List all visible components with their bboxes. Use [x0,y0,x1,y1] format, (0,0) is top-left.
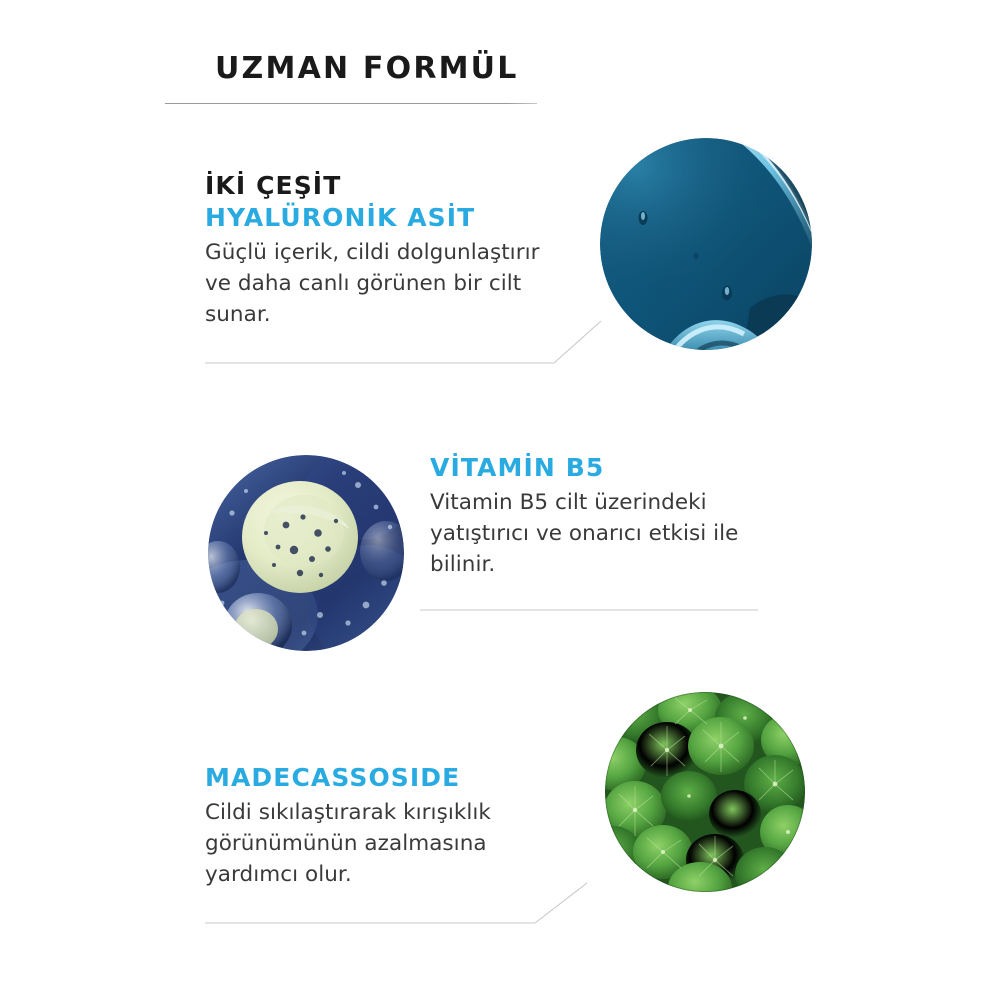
connector-line-2 [420,600,765,620]
body-line: yatıştırıcı ve onarıcı etkisi ile [430,519,790,550]
teal-serum-droplet-image [600,138,812,350]
teal-serum-droplet-artwork [600,138,812,350]
blue-bubbles-image [208,455,404,651]
blue-bubbles-artwork [208,455,404,651]
centella-leaves-image [605,692,805,892]
section-madecassoside-heading: MADECASSOSIDE [205,762,585,794]
section-hyaluronic-acid-eyebrow: İKİ ÇEŞİT [205,170,585,202]
body-line: bilinir. [430,550,790,581]
section-vitamin-b5-heading: VİTAMİN B5 [430,452,790,484]
page-title: UZMAN FORMÜL [215,52,537,85]
body-line: görünümünün azalmasına [205,829,585,860]
body-line: ve daha canlı görünen bir cilt [205,269,585,300]
header-divider [165,103,537,104]
header: UZMAN FORMÜL [165,52,537,104]
poster-root: UZMAN FORMÜL İKİ ÇEŞİT HYALÜRONİK ASİT G… [0,0,1000,1000]
section-madecassoside-text: MADECASSOSIDE Cildi sıkılaştırarak kırış… [205,762,585,891]
body-line: Güçlü içerik, cildi dolgunlaştırır [205,238,585,269]
section-vitamin-b5-body: Vitamin B5 cilt üzerindeki yatıştırıcı v… [430,488,790,581]
centella-leaves-artwork [605,692,805,892]
section-hyaluronic-acid-heading: HYALÜRONİK ASİT [205,202,585,234]
body-line: Vitamin B5 cilt üzerindeki [430,488,790,519]
connector-line-1 [205,315,615,375]
section-hyaluronic-acid-text: İKİ ÇEŞİT HYALÜRONİK ASİT Güçlü içerik, … [205,170,585,331]
connector-line-3 [205,875,600,935]
body-line: Cildi sıkılaştırarak kırışıklık [205,798,585,829]
section-vitamin-b5-text: VİTAMİN B5 Vitamin B5 cilt üzerindeki ya… [430,452,790,581]
